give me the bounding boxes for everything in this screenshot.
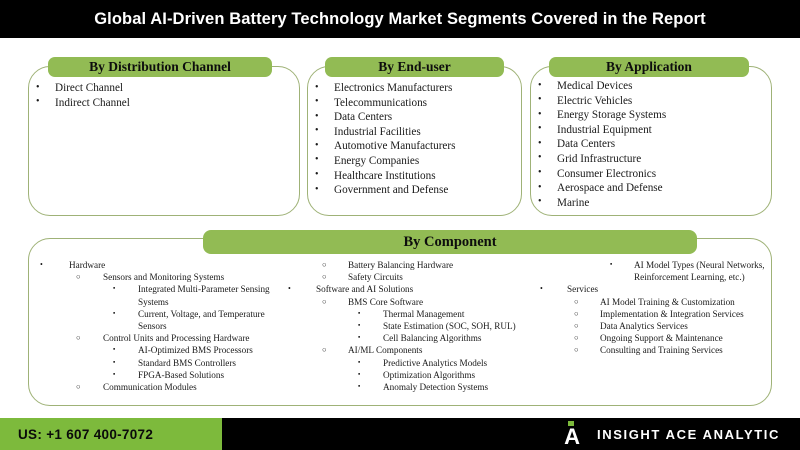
bullet-level-2-icon: ○ — [574, 308, 586, 320]
component-item-label: Current, Voltage, and Temperature Sensor… — [138, 308, 276, 332]
bullet-level-3-icon: ▪ — [358, 381, 370, 393]
list-item: Telecommunications — [308, 96, 521, 111]
component-item-label: Control Units and Processing Hardware — [103, 332, 291, 344]
component-item-l2: ○Implementation & Integration Services — [542, 308, 773, 320]
component-item-label: Hardware — [69, 259, 291, 271]
component-item-l2: ○AI Model Training & Customization — [542, 296, 773, 308]
component-item-l3: ▪State Estimation (SOC, SOH, RUL) — [300, 320, 533, 332]
component-item-l2: ○Control Units and Processing Hardware — [38, 332, 291, 344]
component-item-l2: ○Ongoing Support & Maintenance — [542, 332, 773, 344]
distribution-channel-list: Direct ChannelIndirect Channel — [29, 81, 299, 110]
brand-letter: A — [561, 426, 583, 447]
panel-header-component: By Component — [203, 230, 697, 254]
component-item-l1: •Software and AI Solutions — [300, 283, 533, 295]
brand-logo: A INSIGHT ACE ANALYTIC — [561, 418, 780, 450]
component-item-l3: ▪Cell Balancing Algorithms — [300, 332, 533, 344]
bullet-level-1-icon: • — [540, 283, 552, 295]
panel-title-end-user: By End-user — [378, 60, 450, 74]
component-item-label: Anomaly Detection Systems — [383, 381, 533, 393]
bullet-level-2-icon: ○ — [76, 271, 88, 283]
bullet-level-2-icon: ○ — [322, 259, 334, 271]
bullet-level-3-icon: ▪ — [358, 308, 370, 320]
component-item-label: Standard BMS Controllers — [138, 357, 291, 369]
component-item-label: AI Model Types (Neural Networks, Reinfor… — [634, 259, 772, 283]
page-title: Global AI-Driven Battery Technology Mark… — [94, 10, 706, 29]
bullet-level-3-icon: ▪ — [113, 308, 125, 320]
footer-phone-number[interactable]: US: +1 607 400-7072 — [18, 427, 153, 442]
panel-title-component: By Component — [403, 235, 496, 250]
component-item-label: Software and AI Solutions — [316, 283, 533, 295]
list-item: Industrial Equipment — [531, 123, 771, 138]
component-item-l3: ▪Optimization Algorithms — [300, 369, 533, 381]
component-item-label: Communication Modules — [103, 381, 291, 393]
panel-header-distribution-channel: By Distribution Channel — [48, 57, 272, 77]
bullet-level-3-icon: ▪ — [113, 344, 125, 356]
component-item-l3: ▪AI-Optimized BMS Processors — [38, 344, 291, 356]
end-user-list: Electronics ManufacturersTelecommunicati… — [308, 81, 521, 198]
list-item: Consumer Electronics — [531, 167, 771, 182]
list-item: Automotive Manufacturers — [308, 139, 521, 154]
bullet-level-1-icon: • — [288, 283, 300, 295]
list-item: Marine — [531, 196, 771, 211]
component-column-services: ▪AI Model Types (Neural Networks, Reinfo… — [533, 259, 773, 407]
footer-bar: US: +1 607 400-7072 A INSIGHT ACE ANALYT… — [0, 418, 800, 450]
component-item-l2: ○AI/ML Components — [300, 344, 533, 356]
list-item: Healthcare Institutions — [308, 169, 521, 184]
list-item: Grid Infrastructure — [531, 152, 771, 167]
list-item: Energy Storage Systems — [531, 108, 771, 123]
component-item-label: Battery Balancing Hardware — [348, 259, 533, 271]
component-item-label: BMS Core Software — [348, 296, 533, 308]
component-item-l2: ○Sensors and Monitoring Systems — [38, 271, 291, 283]
bullet-level-2-icon: ○ — [322, 271, 334, 283]
component-item-label: Services — [567, 283, 773, 295]
bullet-level-2-icon: ○ — [574, 320, 586, 332]
bullet-level-1-icon: • — [40, 259, 52, 271]
bullet-level-2-icon: ○ — [574, 332, 586, 344]
component-item-l2: ○Battery Balancing Hardware — [300, 259, 533, 271]
component-item-l1: •Hardware — [38, 259, 291, 271]
bullet-level-2-icon: ○ — [322, 344, 334, 356]
component-item-l3: ▪Thermal Management — [300, 308, 533, 320]
component-item-l3: ▪FPGA-Based Solutions — [38, 369, 291, 381]
component-item-label: AI Model Training & Customization — [600, 296, 773, 308]
bullet-level-2-icon: ○ — [322, 296, 334, 308]
footer-phone-block[interactable]: US: +1 607 400-7072 — [0, 418, 222, 450]
bullet-level-2-icon: ○ — [574, 344, 586, 356]
bullet-level-3-icon: ▪ — [358, 332, 370, 344]
component-item-label: State Estimation (SOC, SOH, RUL) — [383, 320, 533, 332]
panel-end-user: Electronics ManufacturersTelecommunicati… — [307, 66, 522, 216]
component-item-l3: ▪Integrated Multi-Parameter Sensing Syst… — [38, 283, 291, 307]
brand-name: INSIGHT ACE ANALYTIC — [597, 427, 780, 442]
bullet-level-3-icon: ▪ — [113, 357, 125, 369]
list-item: Industrial Facilities — [308, 125, 521, 140]
component-item-label: Ongoing Support & Maintenance — [600, 332, 773, 344]
list-item: Indirect Channel — [29, 96, 299, 111]
component-item-label: Safety Circuits — [348, 271, 533, 283]
panel-header-end-user: By End-user — [325, 57, 504, 77]
bullet-level-3-icon: ▪ — [113, 283, 125, 295]
component-item-l2: ○Safety Circuits — [300, 271, 533, 283]
component-column-software: ○Battery Balancing Hardware○Safety Circu… — [291, 259, 533, 407]
component-item-label: Cell Balancing Algorithms — [383, 332, 533, 344]
component-columns: •Hardware○Sensors and Monitoring Systems… — [29, 259, 773, 407]
panel-header-application: By Application — [549, 57, 749, 77]
component-item-l3: ▪Predictive Analytics Models — [300, 357, 533, 369]
application-list: Medical DevicesElectric VehiclesEnergy S… — [531, 79, 771, 210]
panel-component: •Hardware○Sensors and Monitoring Systems… — [28, 238, 772, 406]
bullet-level-3-icon: ▪ — [610, 259, 622, 271]
list-item: Electronics Manufacturers — [308, 81, 521, 96]
list-item: Government and Defense — [308, 183, 521, 198]
bullet-level-2-icon: ○ — [574, 296, 586, 308]
component-item-l2: ○Communication Modules — [38, 381, 291, 393]
component-item-label: FPGA-Based Solutions — [138, 369, 291, 381]
list-item: Direct Channel — [29, 81, 299, 96]
bullet-level-3-icon: ▪ — [358, 369, 370, 381]
bullet-level-3-icon: ▪ — [358, 320, 370, 332]
bullet-level-3-icon: ▪ — [113, 369, 125, 381]
component-item-label: Optimization Algorithms — [383, 369, 533, 381]
component-item-l3: ▪Current, Voltage, and Temperature Senso… — [38, 308, 291, 332]
component-item-l3: ▪Anomaly Detection Systems — [300, 381, 533, 393]
component-item-label: Thermal Management — [383, 308, 533, 320]
panel-distribution-channel: Direct ChannelIndirect Channel — [28, 66, 300, 216]
bullet-level-2-icon: ○ — [76, 332, 88, 344]
component-item-label: AI-Optimized BMS Processors — [138, 344, 291, 356]
component-item-l3: ▪AI Model Types (Neural Networks, Reinfo… — [542, 259, 773, 283]
bullet-level-2-icon: ○ — [76, 381, 88, 393]
list-item: Data Centers — [308, 110, 521, 125]
panel-title-application: By Application — [606, 60, 692, 74]
component-item-label: Consulting and Training Services — [600, 344, 773, 356]
page-title-bar: Global AI-Driven Battery Technology Mark… — [0, 0, 800, 38]
list-item: Electric Vehicles — [531, 94, 771, 109]
list-item: Aerospace and Defense — [531, 181, 771, 196]
component-column-hardware: •Hardware○Sensors and Monitoring Systems… — [29, 259, 291, 407]
component-item-label: Predictive Analytics Models — [383, 357, 533, 369]
component-item-label: Sensors and Monitoring Systems — [103, 271, 291, 283]
component-item-l2: ○Data Analytics Services — [542, 320, 773, 332]
list-item: Data Centers — [531, 137, 771, 152]
panel-title-distribution-channel: By Distribution Channel — [89, 60, 231, 74]
brand-mark-icon: A — [561, 421, 583, 447]
panel-application: Medical DevicesElectric VehiclesEnergy S… — [530, 66, 772, 216]
bullet-level-3-icon: ▪ — [358, 357, 370, 369]
component-item-label: Data Analytics Services — [600, 320, 773, 332]
component-item-label: Integrated Multi-Parameter Sensing Syste… — [138, 283, 276, 307]
infographic-page: Global AI-Driven Battery Technology Mark… — [0, 0, 800, 450]
component-item-l2: ○BMS Core Software — [300, 296, 533, 308]
component-item-label: AI/ML Components — [348, 344, 533, 356]
component-item-label: Implementation & Integration Services — [600, 308, 773, 320]
component-item-l3: ▪Standard BMS Controllers — [38, 357, 291, 369]
component-item-l2: ○Consulting and Training Services — [542, 344, 773, 356]
list-item: Medical Devices — [531, 79, 771, 94]
component-item-l1: •Services — [542, 283, 773, 295]
list-item: Energy Companies — [308, 154, 521, 169]
